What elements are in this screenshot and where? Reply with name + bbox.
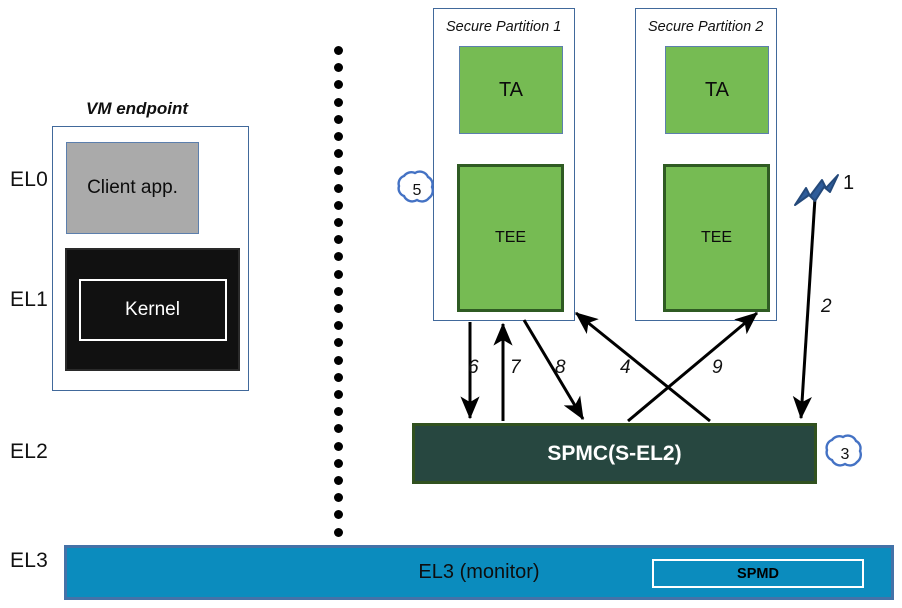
arrow-label-8: 8 xyxy=(555,357,566,379)
arrow-4-line xyxy=(576,313,710,421)
diagram-canvas: EL0 EL1 EL2 EL3 VM endpoint Client app. … xyxy=(0,0,902,608)
arrow-8-line xyxy=(524,320,583,419)
arrow-label-2: 2 xyxy=(821,296,832,318)
arrow-label-6: 6 xyxy=(468,357,479,379)
cloud-label-5: 5 xyxy=(403,182,431,200)
arrow-2-line xyxy=(801,198,815,418)
arrow-layer xyxy=(0,0,902,608)
cloud-label-3: 3 xyxy=(831,446,859,464)
arrow-label-9: 9 xyxy=(712,357,723,379)
arrow-label-4: 4 xyxy=(620,357,631,379)
lightning-bolt-icon xyxy=(795,175,838,205)
arrow-label-7: 7 xyxy=(510,357,521,379)
lightning-bolt-label: 1 xyxy=(843,172,854,195)
arrow-9-line xyxy=(628,313,757,421)
